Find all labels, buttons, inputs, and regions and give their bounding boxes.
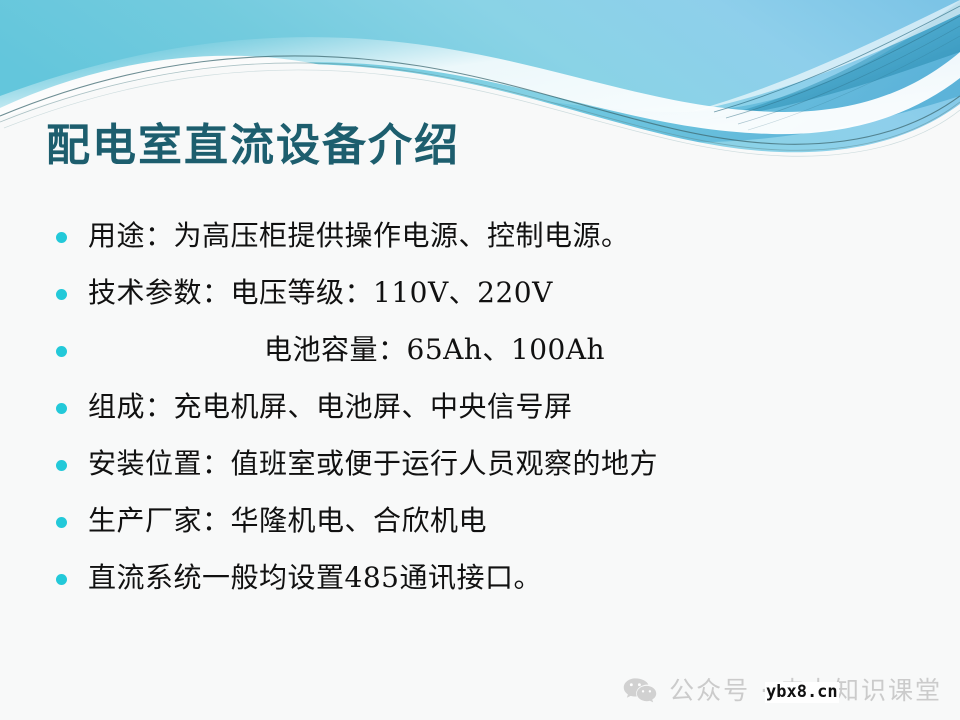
list-item: 电池容量：65Ah、100Ah <box>56 328 936 385</box>
list-item-label: 生产厂家：华隆机电、合欣机电 <box>88 499 936 543</box>
bullet-dot-icon <box>56 460 67 471</box>
list-item: 直流系统一般均设置485通讯接口。 <box>56 556 936 613</box>
list-item: 技术参数：电压等级：110V、220V <box>56 271 936 328</box>
list-item: 用途：为高压柜提供操作电源、控制电源。 <box>56 214 936 271</box>
header-wave-graphic <box>0 0 960 210</box>
wechat-icon <box>623 677 657 705</box>
list-item-label: 电池容量：65Ah、100Ah <box>88 328 936 372</box>
slide-canvas: 配电室直流设备介绍 用途：为高压柜提供操作电源、控制电源。 技术参数：电压等级：… <box>0 0 960 720</box>
bullet-dot-icon <box>56 346 67 357</box>
bullet-dot-icon <box>56 232 67 243</box>
bullet-dot-icon <box>56 517 67 528</box>
bullet-dot-icon <box>56 403 67 414</box>
list-item: 组成：充电机屏、电池屏、中央信号屏 <box>56 385 936 442</box>
list-item: 生产厂家：华隆机电、合欣机电 <box>56 499 936 556</box>
slide-title: 配电室直流设备介绍 <box>46 118 906 174</box>
bullet-dot-icon <box>56 574 67 585</box>
list-item-label: 安装位置：值班室或便于运行人员观察的地方 <box>88 442 936 486</box>
site-stamp: ybx8.cn <box>765 682 839 703</box>
list-item-label: 组成：充电机屏、电池屏、中央信号屏 <box>88 385 936 429</box>
list-item: 安装位置：值班室或便于运行人员观察的地方 <box>56 442 936 499</box>
list-item-label: 技术参数：电压等级：110V、220V <box>88 271 936 315</box>
list-item-label: 用途：为高压柜提供操作电源、控制电源。 <box>88 214 936 258</box>
bullet-list: 用途：为高压柜提供操作电源、控制电源。 技术参数：电压等级：110V、220V … <box>56 214 936 613</box>
list-item-label: 直流系统一般均设置485通讯接口。 <box>88 556 936 600</box>
bullet-dot-icon <box>56 289 67 300</box>
